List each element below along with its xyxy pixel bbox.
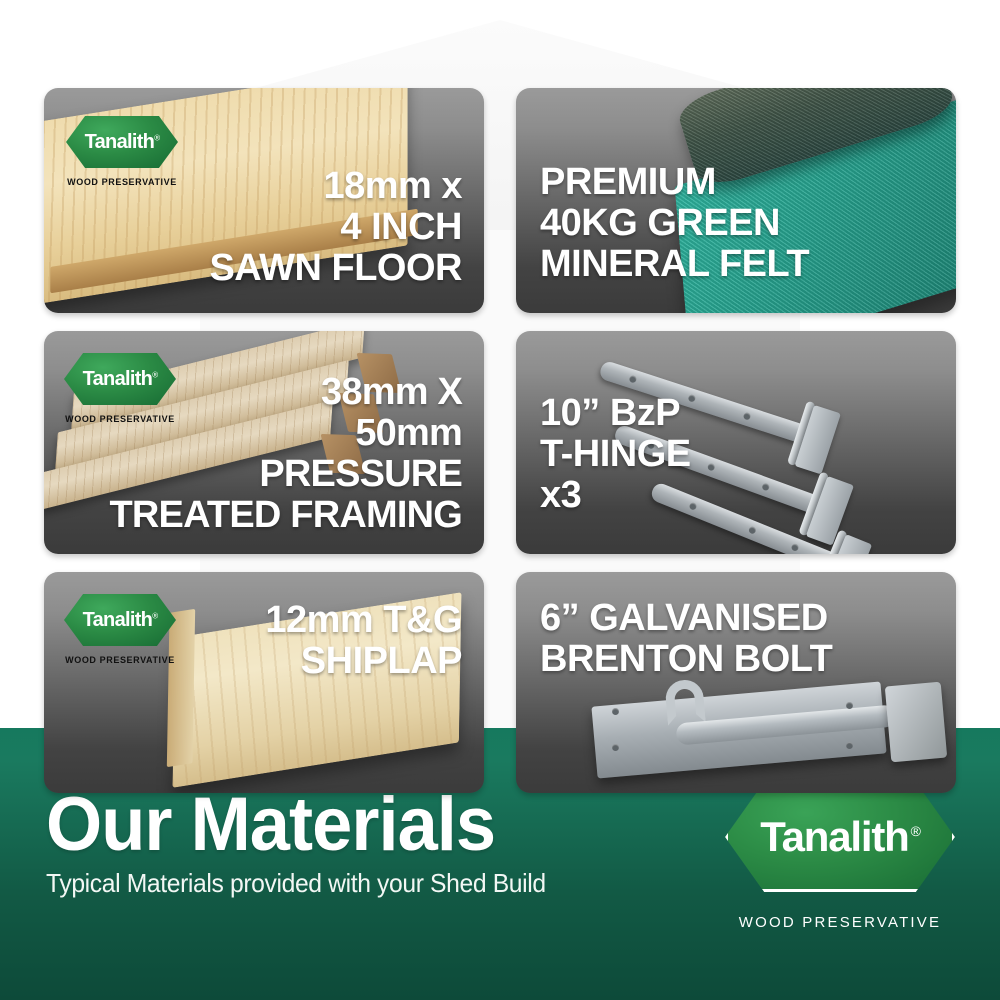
bolt-rivet — [612, 744, 619, 751]
brand-tagline: WOOD PRESERVATIVE — [64, 655, 176, 665]
card-label: 10” BzP T-HINGE x3 — [540, 393, 691, 516]
page-subtitle: Typical Materials provided with your She… — [46, 868, 681, 899]
brand-name: Tanalith® — [83, 368, 158, 391]
card-label: 12mm T&G SHIPLAP — [265, 600, 462, 682]
tanalith-mini-logo: Tanalith® WOOD PRESERVATIVE — [64, 594, 176, 665]
bolt-rivet — [846, 742, 853, 749]
brand-name-text: Tanalith — [83, 609, 153, 631]
brand-name-text: Tanalith — [83, 368, 153, 390]
material-card-brenton-bolt[interactable]: 6” GALVANISED BRENTON BOLT — [516, 572, 956, 793]
material-card-t-hinge[interactable]: 10” BzP T-HINGE x3 — [516, 331, 956, 554]
material-card-shiplap[interactable]: Tanalith® WOOD PRESERVATIVE 12mm T&G SHI… — [44, 572, 484, 793]
bolt-keeper-staple — [885, 682, 947, 763]
tanalith-mini-logo: Tanalith® WOOD PRESERVATIVE — [64, 353, 176, 424]
brand-tagline: WOOD PRESERVATIVE — [66, 177, 178, 187]
brand-tagline: WOOD PRESERVATIVE — [64, 414, 176, 424]
brand-name: Tanalith® — [760, 813, 919, 861]
materials-grid: Tanalith® WOOD PRESERVATIVE 18mm x 4 INC… — [44, 88, 956, 793]
tanalith-badge-icon: Tanalith® — [66, 116, 178, 168]
brand-name-text: Tanalith — [760, 813, 908, 860]
brand-name: Tanalith® — [83, 609, 158, 632]
tanalith-badge-icon: Tanalith® — [725, 782, 955, 892]
material-card-framing[interactable]: Tanalith® WOOD PRESERVATIVE 38mm X 50mm … — [44, 331, 484, 554]
card-label: 6” GALVANISED BRENTON BOLT — [540, 598, 832, 680]
registered-mark: ® — [154, 133, 159, 142]
page-title: Our Materials — [46, 788, 681, 862]
registered-mark: ® — [152, 611, 157, 620]
tanalith-badge-icon: Tanalith® — [64, 594, 176, 646]
bolt-padlock-loop — [664, 678, 706, 725]
card-label: 18mm x 4 INCH SAWN FLOOR — [209, 166, 462, 289]
bolt-rivet — [612, 708, 619, 715]
tanalith-mini-logo: Tanalith® WOOD PRESERVATIVE — [66, 116, 178, 187]
registered-mark: ® — [911, 823, 920, 839]
registered-mark: ® — [152, 370, 157, 379]
banner-text-block: Our Materials Typical Materials provided… — [46, 788, 714, 899]
brand-name: Tanalith® — [85, 131, 160, 154]
tanalith-brand-logo: Tanalith® WOOD PRESERVATIVE — [714, 782, 966, 931]
bolt-rivet — [846, 702, 853, 709]
material-card-sawn-floor[interactable]: Tanalith® WOOD PRESERVATIVE 18mm x 4 INC… — [44, 88, 484, 313]
material-card-mineral-felt[interactable]: PREMIUM 40KG GREEN MINERAL FELT — [516, 88, 956, 313]
card-label: PREMIUM 40KG GREEN MINERAL FELT — [540, 162, 809, 285]
tanalith-badge-icon: Tanalith® — [64, 353, 176, 405]
brand-name-text: Tanalith — [85, 131, 155, 153]
brand-tagline: WOOD PRESERVATIVE — [714, 914, 966, 931]
